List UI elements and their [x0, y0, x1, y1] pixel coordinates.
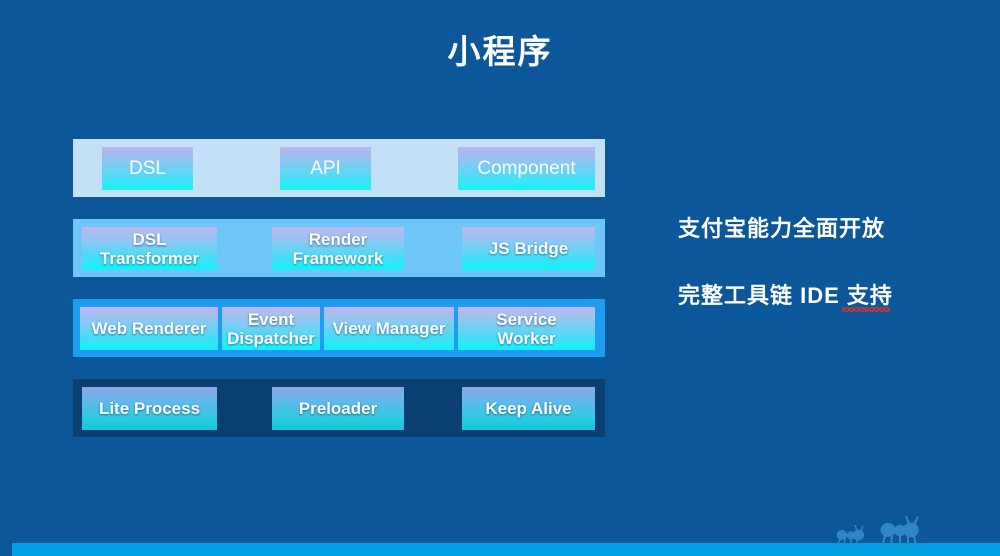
- arch-box-render-framework[interactable]: Render Framework: [272, 227, 404, 270]
- slide-canvas: 小程序 DSL API Component DSL Transformer: [0, 0, 1000, 556]
- arch-box-label-line1: Service: [496, 310, 557, 329]
- arch-box-label: Preloader: [299, 399, 377, 418]
- arch-box-dsl-transformer[interactable]: DSL Transformer: [82, 227, 217, 270]
- arch-box-lite-process[interactable]: Lite Process: [82, 387, 217, 430]
- arch-row-runtime-layer: Web Renderer Event Dispatcher View Manag…: [73, 299, 605, 357]
- red-squiggly-underline-icon: [842, 307, 890, 312]
- side-note-capability: 支付宝能力全面开放: [678, 211, 885, 243]
- arch-box-label-line2: Framework: [293, 249, 384, 268]
- arch-box-label: DSL Transformer: [100, 230, 199, 268]
- arch-box-label-line2: Dispatcher: [227, 329, 315, 348]
- arch-box-service-worker[interactable]: Service Worker: [458, 307, 595, 350]
- arch-box-label: API: [310, 159, 341, 178]
- arch-row-process-layer: Lite Process Preloader Keep Alive: [73, 379, 605, 437]
- ant-icon: [875, 515, 923, 547]
- arch-box-web-renderer[interactable]: Web Renderer: [80, 307, 218, 350]
- arch-box-label: Web Renderer: [92, 319, 207, 338]
- arch-box-dsl[interactable]: DSL: [102, 147, 193, 190]
- arch-box-view-manager[interactable]: View Manager: [324, 307, 454, 350]
- arch-box-label: View Manager: [332, 319, 445, 338]
- arch-box-label: Service Worker: [496, 310, 557, 348]
- ant-icon: [832, 524, 868, 546]
- arch-box-component[interactable]: Component: [458, 147, 595, 190]
- arch-box-label-line1: DSL: [132, 230, 166, 249]
- architecture-stack: DSL API Component DSL Transformer Render…: [73, 139, 605, 459]
- arch-box-label: Component: [477, 159, 575, 178]
- arch-box-js-bridge[interactable]: JS Bridge: [462, 227, 595, 270]
- arch-box-label: JS Bridge: [489, 239, 568, 258]
- arch-box-keep-alive[interactable]: Keep Alive: [462, 387, 595, 430]
- arch-box-event-dispatcher[interactable]: Event Dispatcher: [222, 307, 320, 350]
- bottom-accent-bar-notch: [0, 543, 12, 556]
- arch-row-presentation-layer: DSL API Component: [73, 139, 605, 197]
- arch-box-label-line1: Event: [248, 310, 294, 329]
- arch-box-label-line1: Render: [309, 230, 368, 249]
- arch-box-label: Event Dispatcher: [227, 310, 315, 348]
- arch-box-label: Keep Alive: [485, 399, 571, 418]
- page-title: 小程序: [0, 30, 1000, 74]
- arch-box-api[interactable]: API: [280, 147, 371, 190]
- arch-box-label: Lite Process: [99, 399, 200, 418]
- arch-box-label: DSL: [129, 159, 166, 178]
- side-note-toolchain: 完整工具链 IDE 支持: [678, 278, 893, 310]
- arch-box-preloader[interactable]: Preloader: [272, 387, 404, 430]
- arch-box-label-line2: Worker: [497, 329, 555, 348]
- arch-box-label-line2: Transformer: [100, 249, 199, 268]
- arch-box-label: Render Framework: [293, 230, 384, 268]
- arch-row-framework-layer: DSL Transformer Render Framework JS Brid…: [73, 219, 605, 277]
